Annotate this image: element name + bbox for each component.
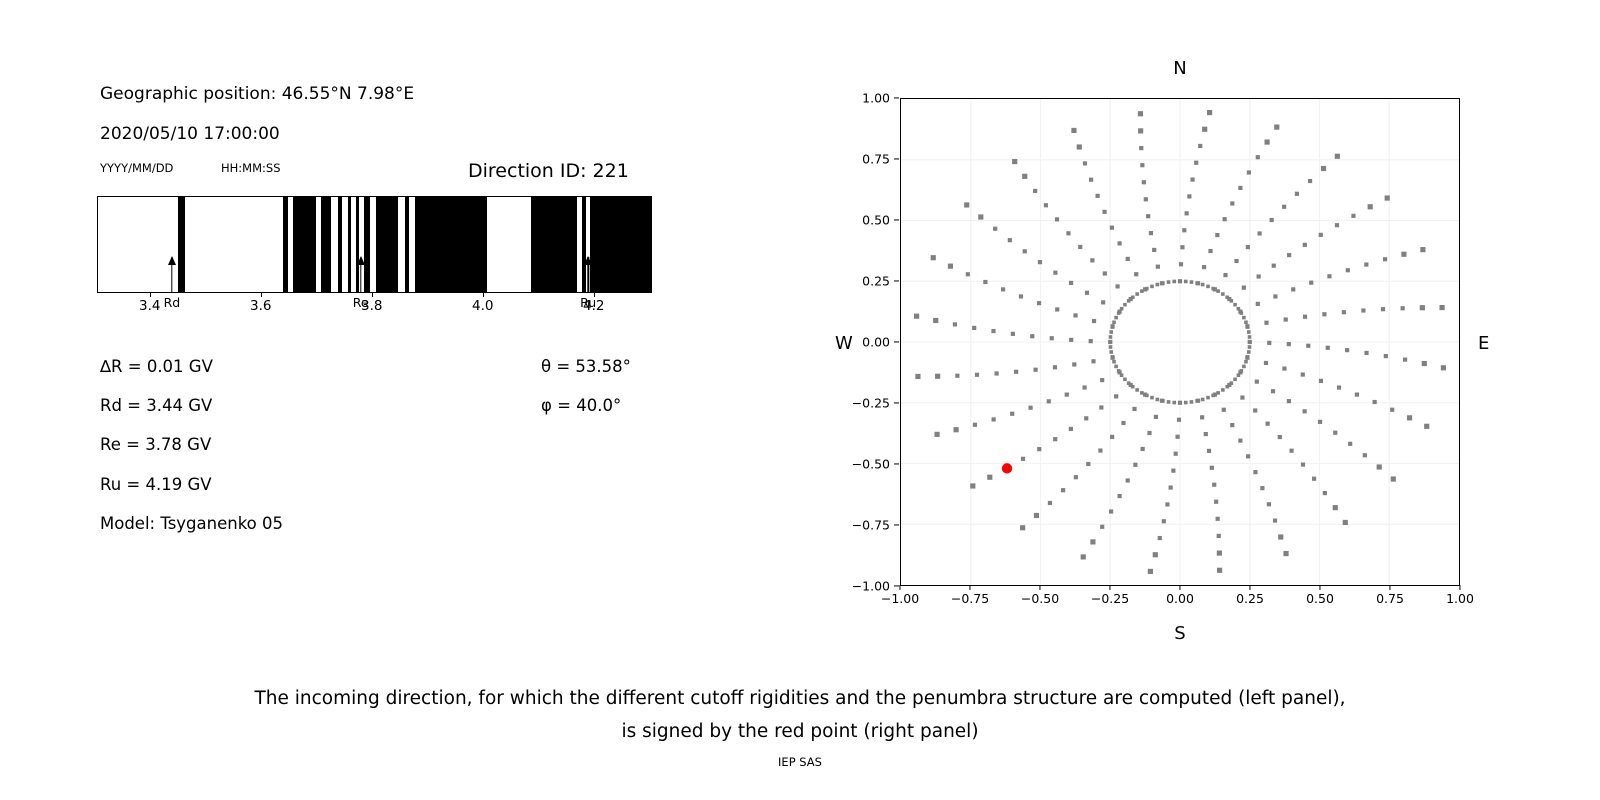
penumbra-chart	[97, 196, 652, 293]
penumbra-tick-mark	[372, 293, 373, 297]
compass-label-north: N	[1173, 58, 1186, 79]
caption-line-1: The incoming direction, for which the di…	[0, 682, 1600, 715]
x-axis-tick-mark	[1109, 585, 1110, 590]
penumbra-tick-label: 3.4	[139, 298, 160, 314]
direction-id-label: Direction ID: 221	[468, 160, 629, 182]
x-axis-tick-label: 0.75	[1376, 591, 1404, 606]
penumbra-band	[364, 197, 371, 292]
arrow-up-icon	[357, 256, 365, 265]
param-delta-rigidity: ∆R = 0.01 GV	[100, 357, 213, 376]
penumbra-plot-area	[97, 196, 652, 293]
geographic-position-text: Geographic position: 46.55°N 7.98°E	[100, 84, 414, 104]
penumbra-band	[415, 197, 487, 292]
x-axis-tick-mark	[899, 585, 900, 590]
rigidity-marker-label: Re	[353, 295, 369, 310]
right-panel: N S W E −1.00−0.75−0.50−0.250.000.250.50…	[760, 0, 1600, 660]
y-axis-tick-label: −0.50	[838, 457, 890, 472]
left-panel: Geographic position: 46.55°N 7.98°E 2020…	[0, 0, 760, 660]
time-format-hint: HH:MM:SS	[221, 161, 281, 175]
x-axis-tick-mark	[1179, 585, 1180, 590]
penumbra-tick-label: 4.0	[472, 298, 493, 314]
param-model: Model: Tsyganenko 05	[100, 514, 283, 533]
datetime-text: 2020/05/10 17:00:00	[100, 124, 280, 144]
penumbra-band	[582, 197, 585, 292]
penumbra-band	[178, 197, 185, 292]
rigidity-marker-label: Ru	[580, 295, 596, 310]
x-axis-tick-mark	[1389, 585, 1390, 590]
y-axis-tick-label: 1.00	[838, 91, 890, 106]
y-axis-tick-mark	[894, 97, 899, 98]
x-axis-tick-label: −1.00	[881, 591, 919, 606]
x-axis-tick-label: −0.25	[1091, 591, 1129, 606]
grid-lines	[901, 99, 1459, 585]
penumbra-tick-mark	[150, 293, 151, 297]
arrow-up-icon	[168, 256, 176, 265]
y-axis-tick-label: −0.25	[838, 396, 890, 411]
x-axis-tick-label: 1.00	[1446, 591, 1474, 606]
penumbra-tick-label: 3.6	[250, 298, 271, 314]
x-axis-tick-mark	[1319, 585, 1320, 590]
x-axis-tick-label: 0.00	[1166, 591, 1194, 606]
figure-caption: The incoming direction, for which the di…	[0, 682, 1600, 748]
y-axis-tick-mark	[894, 585, 899, 586]
x-axis-tick-label: −0.75	[951, 591, 989, 606]
penumbra-band	[348, 197, 351, 292]
x-axis-tick-mark	[1039, 585, 1040, 590]
x-axis-tick-label: 0.50	[1306, 591, 1334, 606]
x-axis-tick-label: −0.50	[1021, 591, 1059, 606]
y-axis-tick-label: 0.50	[838, 213, 890, 228]
penumbra-band	[590, 197, 652, 292]
compass-label-east: E	[1478, 333, 1489, 354]
param-phi: φ = 40.0°	[541, 396, 621, 415]
selected-direction-point[interactable]	[1002, 463, 1012, 473]
y-axis-tick-mark	[894, 402, 899, 403]
x-axis-tick-mark	[1249, 585, 1250, 590]
param-ru: Ru = 4.19 GV	[100, 475, 212, 494]
param-re: Re = 3.78 GV	[100, 435, 211, 454]
y-axis-tick-label: 0.25	[838, 274, 890, 289]
y-axis-tick-mark	[894, 158, 899, 159]
direction-grid-plot-area	[900, 98, 1460, 586]
penumbra-band	[356, 197, 359, 292]
footer-credit: IEP SAS	[0, 755, 1600, 769]
penumbra-band	[293, 197, 316, 292]
penumbra-band	[283, 197, 289, 292]
y-axis-tick-mark	[894, 219, 899, 220]
param-rd: Rd = 3.44 GV	[100, 396, 212, 415]
penumbra-band	[321, 197, 331, 292]
rigidity-marker-label: Rd	[164, 295, 181, 310]
penumbra-axis: 3.43.63.84.04.2RdReRu	[97, 293, 652, 307]
y-axis-tick-label: 0.00	[838, 335, 890, 350]
penumbra-tick-mark	[261, 293, 262, 297]
penumbra-band	[405, 197, 409, 292]
direction-scatter-svg	[901, 99, 1459, 585]
penumbra-tick-mark	[483, 293, 484, 297]
y-axis-tick-mark	[894, 524, 899, 525]
x-axis-tick-mark	[969, 585, 970, 590]
param-theta: θ = 53.58°	[541, 357, 631, 376]
y-axis-tick-mark	[894, 463, 899, 464]
penumbra-band	[531, 197, 577, 292]
penumbra-band	[376, 197, 398, 292]
date-format-hint: YYYY/MM/DD	[100, 161, 173, 175]
penumbra-band	[338, 197, 342, 292]
y-axis-tick-label: −0.75	[838, 518, 890, 533]
y-axis-tick-mark	[894, 341, 899, 342]
x-axis-tick-mark	[1459, 585, 1460, 590]
compass-label-south: S	[1174, 623, 1185, 644]
x-axis-tick-label: 0.25	[1236, 591, 1264, 606]
arrow-up-icon	[584, 256, 592, 265]
y-axis-tick-label: 0.75	[838, 152, 890, 167]
caption-line-2: is signed by the red point (right panel)	[0, 715, 1600, 748]
y-axis-tick-mark	[894, 280, 899, 281]
